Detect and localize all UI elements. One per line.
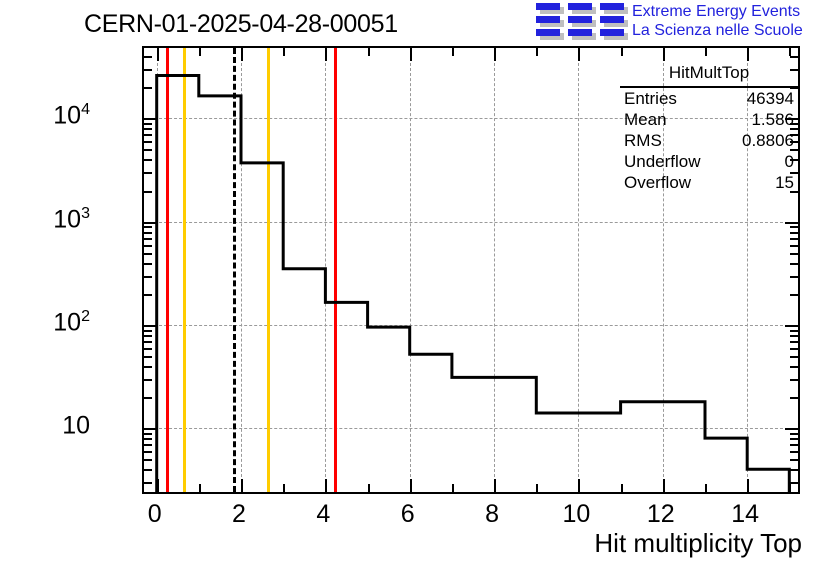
y-axis-label: 104 bbox=[53, 102, 90, 131]
y-axis-tick-minor bbox=[144, 294, 152, 296]
stats-row: Mean1.586 bbox=[620, 109, 798, 130]
y-axis-tick-major bbox=[785, 428, 798, 430]
y-axis-tick-minor bbox=[790, 226, 798, 228]
stats-row: Underflow0 bbox=[620, 151, 798, 172]
stats-row: RMS0.8806 bbox=[620, 130, 798, 151]
y-axis-tick-minor bbox=[790, 232, 798, 234]
x-axis-tick-minor bbox=[621, 48, 623, 56]
y-axis-tick-minor bbox=[790, 341, 798, 343]
root-canvas: CERN-01-2025-04-28-00051 bbox=[0, 0, 836, 572]
y-axis-tick-minor bbox=[790, 263, 798, 265]
x-axis-label: 8 bbox=[485, 500, 499, 529]
y-axis-tick-minor bbox=[790, 294, 798, 296]
stats-row-value: 0 bbox=[785, 152, 794, 171]
y-axis-tick-minor bbox=[790, 330, 798, 332]
y-axis-tick-minor bbox=[144, 141, 152, 143]
y-axis-tick-minor bbox=[144, 123, 152, 125]
x-axis-tick-minor bbox=[199, 48, 201, 56]
stats-row-value: 15 bbox=[775, 173, 794, 192]
y-axis-tick-minor bbox=[144, 149, 152, 151]
x-axis-tick-major bbox=[747, 48, 749, 61]
x-axis-tick-major bbox=[241, 479, 243, 492]
x-axis-label: 14 bbox=[731, 500, 759, 529]
y-axis-tick-minor bbox=[144, 128, 152, 130]
logo-letter-front bbox=[536, 3, 560, 37]
y-axis-tick-minor bbox=[144, 469, 152, 471]
x-axis-label: 12 bbox=[647, 500, 675, 529]
stats-row-key: Overflow bbox=[624, 173, 691, 192]
y-axis-tick-minor bbox=[144, 438, 152, 440]
stats-row: Overflow15 bbox=[620, 172, 798, 193]
stats-row-key: Entries bbox=[624, 89, 677, 108]
x-axis-tick-minor bbox=[705, 48, 707, 56]
eee-logo-line-1: Extreme Energy Events bbox=[632, 2, 803, 21]
y-axis-tick-major bbox=[144, 428, 157, 430]
x-axis-tick-minor bbox=[368, 48, 370, 56]
stats-box[interactable]: HitMultTop Entries46394Mean1.586RMS0.880… bbox=[620, 62, 798, 193]
y-axis-tick-minor bbox=[144, 172, 152, 174]
stats-rows: Entries46394Mean1.586RMS0.8806Underflow0… bbox=[620, 88, 798, 193]
y-axis-tick-minor bbox=[790, 335, 798, 337]
y-axis-tick-minor bbox=[790, 356, 798, 358]
y-axis-tick-minor bbox=[790, 459, 798, 461]
y-axis-tick-minor bbox=[790, 379, 798, 381]
x-axis-tick-minor bbox=[621, 484, 623, 492]
y-axis-tick-minor bbox=[144, 191, 152, 193]
y-axis-tick-minor bbox=[790, 451, 798, 453]
x-axis-tick-major bbox=[241, 48, 243, 61]
y-axis-tick-major bbox=[144, 222, 157, 224]
x-axis-label: 2 bbox=[232, 500, 246, 529]
stats-row: Entries46394 bbox=[620, 88, 798, 109]
logo-letter-front bbox=[600, 3, 624, 37]
x-axis-title: Hit multiplicity Top bbox=[594, 528, 802, 559]
x-axis-tick-minor bbox=[283, 48, 285, 56]
x-axis-tick-minor bbox=[536, 48, 538, 56]
eee-logo-text: Extreme Energy Events La Scienza nelle S… bbox=[632, 2, 803, 40]
stats-row-value: 46394 bbox=[747, 89, 794, 108]
stats-title: HitMultTop bbox=[620, 62, 798, 88]
logo-letter-e-2 bbox=[568, 3, 594, 39]
y-axis-tick-minor bbox=[790, 238, 798, 240]
y-axis-tick-minor bbox=[790, 397, 798, 399]
x-axis-tick-minor bbox=[452, 48, 454, 56]
x-axis-label: 0 bbox=[148, 500, 162, 529]
x-axis-tick-major bbox=[663, 479, 665, 492]
y-axis-tick-minor bbox=[144, 69, 152, 71]
y-axis-tick-minor bbox=[790, 276, 798, 278]
y-axis-tick-minor bbox=[144, 232, 152, 234]
x-axis-tick-minor bbox=[536, 484, 538, 492]
eee-logo-mark bbox=[536, 3, 626, 41]
y-axis-tick-minor bbox=[144, 482, 152, 484]
y-axis-tick-major bbox=[785, 325, 798, 327]
y-axis-tick-minor bbox=[790, 433, 798, 435]
y-axis-tick-minor bbox=[790, 348, 798, 350]
y-axis-tick-minor bbox=[790, 245, 798, 247]
x-axis-tick-major bbox=[494, 479, 496, 492]
y-axis-tick-minor bbox=[144, 253, 152, 255]
x-axis-tick-minor bbox=[789, 48, 791, 56]
y-axis-tick-minor bbox=[144, 356, 152, 358]
y-axis-tick-minor bbox=[790, 444, 798, 446]
y-axis-tick-minor bbox=[144, 433, 152, 435]
y-axis-tick-major bbox=[144, 118, 157, 120]
x-axis-label: 10 bbox=[563, 500, 591, 529]
y-axis-tick-minor bbox=[144, 335, 152, 337]
x-axis-label: 4 bbox=[316, 500, 330, 529]
stats-row-key: Mean bbox=[624, 110, 667, 129]
x-axis-label: 6 bbox=[401, 500, 415, 529]
x-axis-tick-major bbox=[578, 48, 580, 61]
x-axis-tick-major bbox=[157, 479, 159, 492]
y-axis-tick-minor bbox=[144, 451, 152, 453]
logo-letter-e-1 bbox=[536, 3, 562, 39]
stats-row-key: Underflow bbox=[624, 152, 701, 171]
stats-row-value: 1.586 bbox=[751, 110, 794, 129]
logo-letter-e-3 bbox=[600, 3, 626, 39]
y-axis-tick-minor bbox=[144, 56, 152, 58]
x-axis-tick-minor bbox=[452, 484, 454, 492]
x-axis-tick-minor bbox=[368, 484, 370, 492]
x-axis-tick-major bbox=[578, 479, 580, 492]
y-axis-tick-minor bbox=[144, 226, 152, 228]
y-axis-tick-minor bbox=[790, 469, 798, 471]
x-axis-tick-major bbox=[157, 48, 159, 61]
y-axis-tick-minor bbox=[790, 253, 798, 255]
y-axis-tick-major bbox=[785, 222, 798, 224]
x-axis-tick-major bbox=[747, 479, 749, 492]
y-axis-tick-minor bbox=[144, 263, 152, 265]
y-axis-label: 102 bbox=[53, 308, 90, 337]
x-axis-tick-minor bbox=[705, 484, 707, 492]
y-axis-tick-minor bbox=[790, 438, 798, 440]
y-axis-tick-minor bbox=[144, 397, 152, 399]
x-axis-tick-major bbox=[494, 48, 496, 61]
stats-row-key: RMS bbox=[624, 131, 662, 150]
y-axis-tick-minor bbox=[144, 134, 152, 136]
x-axis-tick-minor bbox=[283, 484, 285, 492]
y-axis-tick-minor bbox=[144, 341, 152, 343]
y-axis-label: 103 bbox=[53, 205, 90, 234]
x-axis-tick-major bbox=[325, 48, 327, 61]
y-axis-tick-minor bbox=[144, 366, 152, 368]
y-axis-tick-minor bbox=[144, 238, 152, 240]
y-axis-tick-minor bbox=[144, 379, 152, 381]
eee-logo-line-2: La Scienza nelle Scuole bbox=[632, 21, 803, 40]
x-axis-tick-major bbox=[663, 48, 665, 61]
y-axis-tick-minor bbox=[144, 330, 152, 332]
y-axis-label: 10 bbox=[62, 412, 90, 441]
y-axis-tick-minor bbox=[790, 56, 798, 58]
x-axis-tick-major bbox=[410, 48, 412, 61]
y-axis-tick-minor bbox=[144, 459, 152, 461]
stats-row-value: 0.8806 bbox=[742, 131, 794, 150]
x-axis-tick-minor bbox=[199, 484, 201, 492]
logo-letter-front bbox=[568, 3, 592, 37]
y-axis-tick-minor bbox=[144, 87, 152, 89]
page-title: CERN-01-2025-04-28-00051 bbox=[84, 10, 398, 39]
y-axis-tick-minor bbox=[144, 276, 152, 278]
x-axis-tick-major bbox=[410, 479, 412, 492]
y-axis-tick-minor bbox=[144, 348, 152, 350]
x-axis-tick-minor bbox=[789, 484, 791, 492]
y-axis-tick-minor bbox=[144, 159, 152, 161]
y-axis-tick-minor bbox=[144, 245, 152, 247]
y-axis-tick-major bbox=[144, 325, 157, 327]
y-axis-tick-minor bbox=[144, 444, 152, 446]
eee-logo: Extreme Energy Events La Scienza nelle S… bbox=[536, 2, 836, 44]
y-axis-tick-minor bbox=[790, 366, 798, 368]
x-axis-tick-major bbox=[325, 479, 327, 492]
